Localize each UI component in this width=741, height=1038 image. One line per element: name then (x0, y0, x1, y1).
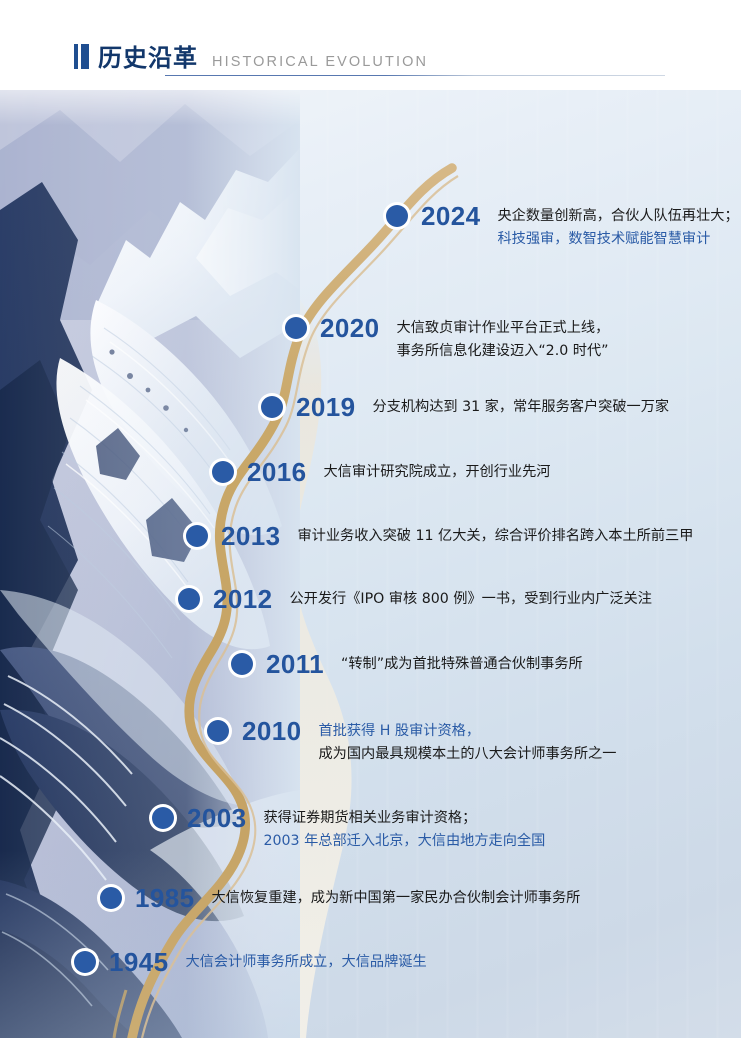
timeline-entry-2010[interactable]: 2010 首批获得 H 股审计资格， 成为国内最具规模本土的八大会计师事务所之一 (207, 716, 616, 766)
timeline-description-line: 科技强审，数智技术赋能智慧审计 (497, 228, 738, 251)
history-evolution-page: 2024 央企数量创新高，合伙人队伍再壮大； 科技强审，数智技术赋能智慧审计 2… (0, 0, 741, 1038)
timeline-dot-icon (100, 887, 122, 909)
timeline-year: 2013 (221, 521, 280, 551)
timeline-entries: 2024 央企数量创新高，合伙人队伍再壮大； 科技强审，数智技术赋能智慧审计 2… (0, 0, 741, 1038)
header-accent-bars (74, 44, 89, 69)
timeline-description: “转制”成为首批特殊普通合伙制事务所 (341, 649, 583, 676)
timeline-entry-2011[interactable]: 2011 “转制”成为首批特殊普通合伙制事务所 (231, 649, 583, 679)
timeline-dot-icon (212, 461, 234, 483)
page-subtitle: HISTORICAL EVOLUTION (212, 55, 428, 70)
timeline-dot-icon (261, 396, 283, 418)
timeline-description: 大信审计研究院成立，开创行业先河 (323, 457, 550, 484)
timeline-dot-icon (178, 588, 200, 610)
page-header: 历史沿革 HISTORICAL EVOLUTION (0, 0, 741, 90)
page-title: 历史沿革 (98, 47, 198, 71)
timeline-description: 大信恢复重建，成为新中国第一家民办合伙制会计师事务所 (211, 883, 580, 910)
header-title-group: 历史沿革 HISTORICAL EVOLUTION (74, 44, 428, 72)
timeline-entry-2019[interactable]: 2019 分支机构达到 31 家，常年服务客户突破一万家 (261, 392, 669, 422)
timeline-description-line: 获得证券期货相关业务审计资格； (263, 807, 545, 830)
timeline-description-line: 首批获得 H 股审计资格， (318, 720, 616, 743)
timeline-entry-2020[interactable]: 2020 大信致贞审计作业平台正式上线， 事务所信息化建设迈入“2.0 时代” (285, 313, 609, 363)
timeline-dot-icon (74, 951, 96, 973)
accent-bar-thick (81, 44, 89, 69)
timeline-dot-icon (285, 317, 307, 339)
timeline-description: 审计业务收入突破 11 亿大关，综合评价排名跨入本土所前三甲 (297, 521, 693, 548)
timeline-description-line: 大信致贞审计作业平台正式上线， (396, 317, 609, 340)
timeline-entry-1945[interactable]: 1945 大信会计师事务所成立，大信品牌诞生 (74, 947, 427, 977)
timeline-entry-1985[interactable]: 1985 大信恢复重建，成为新中国第一家民办合伙制会计师事务所 (100, 883, 580, 913)
header-divider (165, 75, 665, 76)
timeline-entry-2013[interactable]: 2013 审计业务收入突破 11 亿大关，综合评价排名跨入本土所前三甲 (186, 521, 693, 551)
timeline-description-line: 公开发行《IPO 审核 800 例》一书，受到行业内广泛关注 (289, 588, 651, 611)
timeline-year: 2019 (296, 392, 355, 422)
timeline-year: 2011 (266, 649, 324, 679)
timeline-year: 2020 (320, 313, 379, 343)
timeline-description-line: 成为国内最具规模本土的八大会计师事务所之一 (318, 743, 616, 766)
timeline-dot-icon (152, 807, 174, 829)
timeline-description: 大信致贞审计作业平台正式上线， 事务所信息化建设迈入“2.0 时代” (396, 313, 609, 363)
timeline-description-line: 分支机构达到 31 家，常年服务客户突破一万家 (372, 396, 669, 419)
timeline-year: 1985 (135, 883, 194, 913)
timeline-year: 2012 (213, 584, 272, 614)
timeline-description-line: 事务所信息化建设迈入“2.0 时代” (396, 340, 609, 363)
timeline-description-line: “转制”成为首批特殊普通合伙制事务所 (341, 653, 583, 676)
timeline-description-line: 大信恢复重建，成为新中国第一家民办合伙制会计师事务所 (211, 887, 580, 910)
timeline-description-line: 大信会计师事务所成立，大信品牌诞生 (185, 951, 426, 974)
timeline-entry-2003[interactable]: 2003 获得证券期货相关业务审计资格； 2003 年总部迁入北京，大信由地方走… (152, 803, 545, 853)
timeline-description: 公开发行《IPO 审核 800 例》一书，受到行业内广泛关注 (289, 584, 651, 611)
timeline-entry-2012[interactable]: 2012 公开发行《IPO 审核 800 例》一书，受到行业内广泛关注 (178, 584, 652, 614)
timeline-entry-2016[interactable]: 2016 大信审计研究院成立，开创行业先河 (212, 457, 550, 487)
timeline-dot-icon (186, 525, 208, 547)
timeline-year: 2003 (187, 803, 246, 833)
timeline-description-line: 大信审计研究院成立，开创行业先河 (323, 461, 550, 484)
timeline-entry-2024[interactable]: 2024 央企数量创新高，合伙人队伍再壮大； 科技强审，数智技术赋能智慧审计 (386, 201, 739, 251)
timeline-dot-icon (207, 720, 229, 742)
timeline-year: 2016 (247, 457, 306, 487)
accent-bar-thin (74, 44, 78, 69)
timeline-description: 获得证券期货相关业务审计资格； 2003 年总部迁入北京，大信由地方走向全国 (263, 803, 545, 853)
timeline-dot-icon (231, 653, 253, 675)
timeline-description-line: 2003 年总部迁入北京，大信由地方走向全国 (263, 830, 545, 853)
timeline-year: 2024 (421, 201, 480, 231)
timeline-year: 2010 (242, 716, 301, 746)
timeline-year: 1945 (109, 947, 168, 977)
timeline-description-line: 审计业务收入突破 11 亿大关，综合评价排名跨入本土所前三甲 (297, 525, 693, 548)
timeline-description: 首批获得 H 股审计资格， 成为国内最具规模本土的八大会计师事务所之一 (318, 716, 616, 766)
timeline-description: 大信会计师事务所成立，大信品牌诞生 (185, 947, 426, 974)
timeline-dot-icon (386, 205, 408, 227)
timeline-description: 央企数量创新高，合伙人队伍再壮大； 科技强审，数智技术赋能智慧审计 (497, 201, 738, 251)
timeline-description: 分支机构达到 31 家，常年服务客户突破一万家 (372, 392, 669, 419)
timeline-description-line: 央企数量创新高，合伙人队伍再壮大； (497, 205, 738, 228)
